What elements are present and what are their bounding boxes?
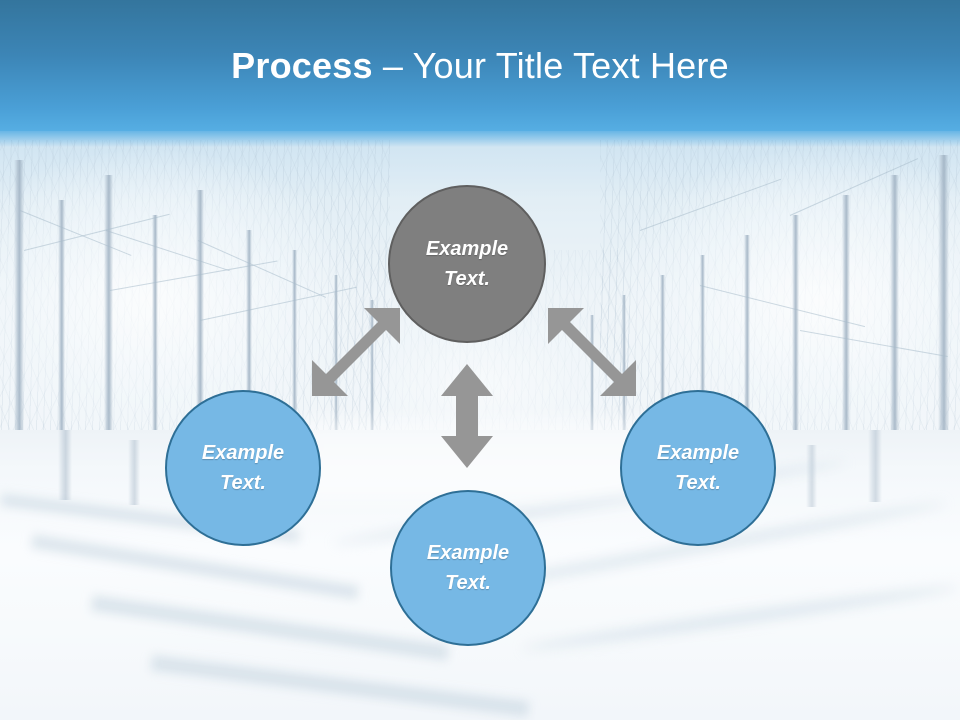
node-left[interactable]: Example Text. (165, 390, 321, 546)
slide-canvas: Process – Your Title Text Here Example T… (0, 0, 960, 720)
node-right-line2: Text. (675, 468, 721, 498)
node-left-line2: Text. (220, 468, 266, 498)
node-right-line1: Example (657, 438, 739, 468)
node-top[interactable]: Example Text. (388, 185, 546, 343)
node-left-line1: Example (202, 438, 284, 468)
arrow-vertical[interactable] (437, 362, 497, 470)
node-right[interactable]: Example Text. (620, 390, 776, 546)
process-diagram: Example Text. Example Text. Example Text… (0, 0, 960, 720)
node-bottom-line2: Text. (445, 568, 491, 598)
node-top-line2: Text. (444, 264, 490, 294)
node-bottom[interactable]: Example Text. (390, 490, 546, 646)
node-top-line1: Example (426, 234, 508, 264)
node-bottom-line1: Example (427, 538, 509, 568)
arrow-left-diagonal[interactable] (304, 300, 408, 404)
arrow-right-diagonal[interactable] (540, 300, 644, 404)
